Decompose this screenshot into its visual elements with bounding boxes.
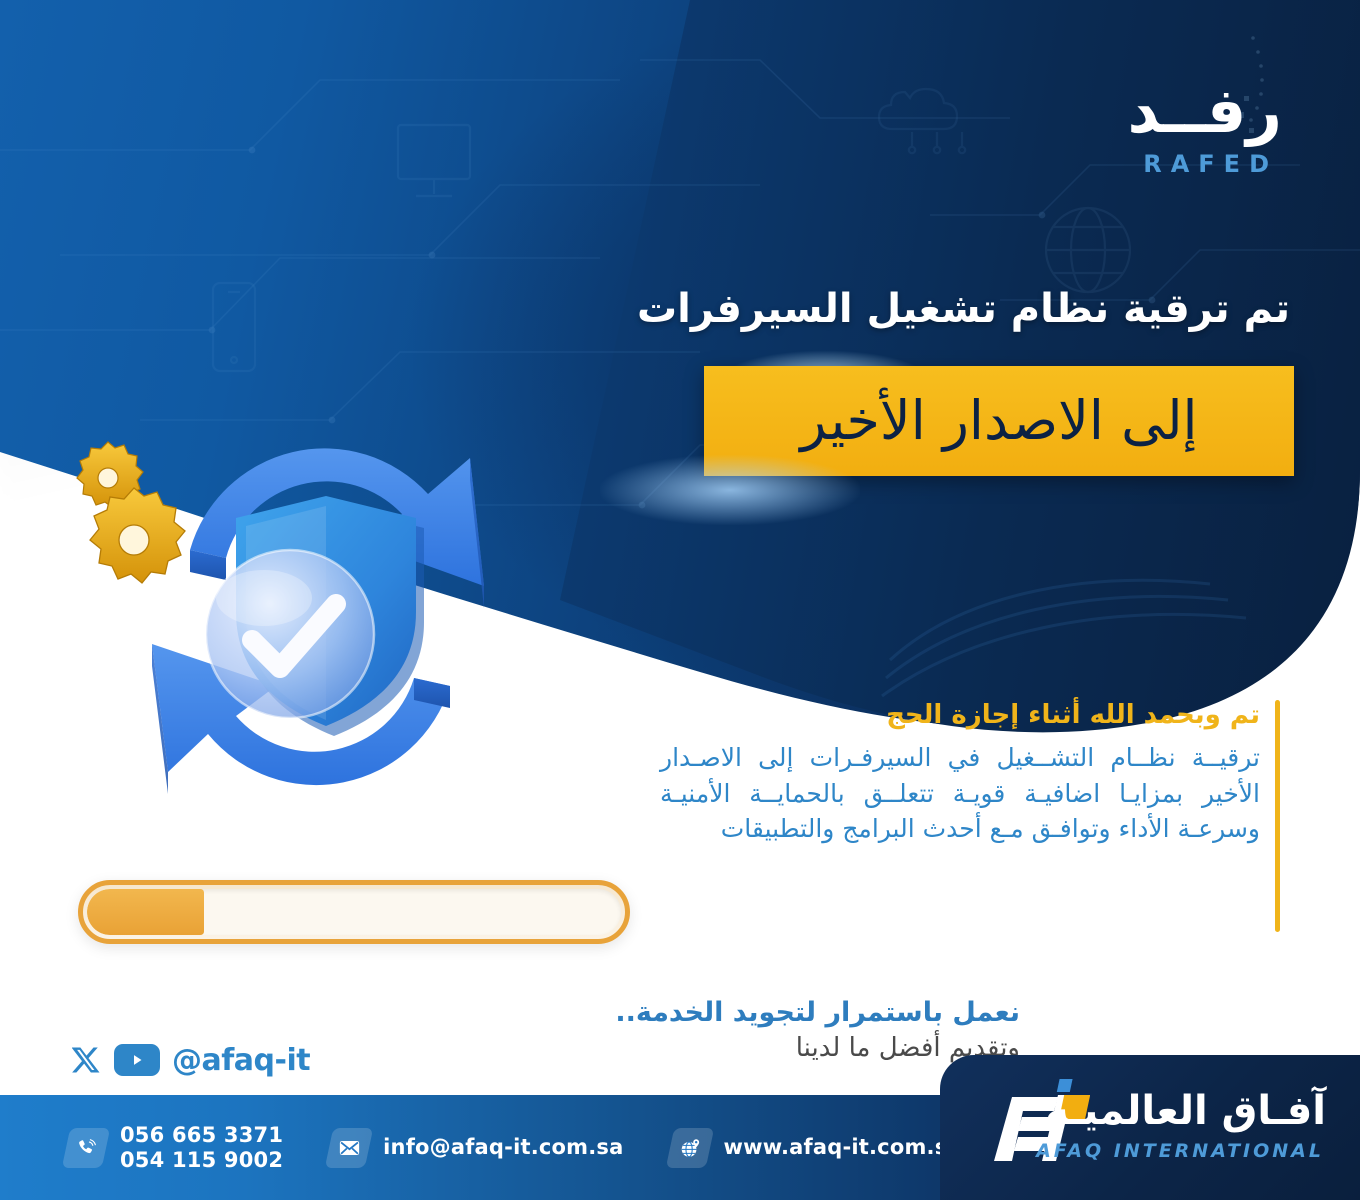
headline-highlight-text: إلى الاصدار الأخير <box>800 394 1197 448</box>
social-handles: @afaq-it <box>72 1038 310 1082</box>
footer-phone-line2: 054 115 9002 <box>120 1148 283 1173</box>
footer-website[interactable]: www.afaq-it.com.sa <box>670 1128 962 1168</box>
update-progress-bar <box>78 880 630 944</box>
update-shield-illustration <box>40 390 600 820</box>
rafed-logo: رفــد RAFED <box>1082 62 1282 182</box>
headline-line1: تم ترقية نظام تشغيل السيرفرات <box>570 284 1290 334</box>
paragraph-body: ترقيــة نظــام التشــغيل في السيرفـرات إ… <box>660 740 1260 847</box>
footer-email[interactable]: info@afaq-it.com.sa <box>329 1128 623 1168</box>
progress-fill <box>87 889 204 935</box>
footer-website-text: www.afaq-it.com.sa <box>724 1135 962 1160</box>
social-handle-text[interactable]: @afaq-it <box>172 1043 310 1078</box>
footer-email-text: info@afaq-it.com.sa <box>383 1135 623 1160</box>
footer-phone-line1: 056 665 3371 <box>120 1123 283 1148</box>
paragraph-block: تم وبحمد الله أثناء إجازة الحج ترقيــة ن… <box>660 700 1260 847</box>
envelope-icon <box>325 1128 374 1168</box>
checkmark-badge <box>206 550 374 718</box>
afaq-logo-arabic: آفـاق العالميـة <box>1045 1088 1326 1134</box>
youtube-icon[interactable] <box>114 1044 160 1076</box>
afaq-logo-latin: AFAQ INTERNATIONAL <box>1036 1140 1324 1162</box>
tagline-line2: وتقديم أفضل ما لدينا <box>490 1032 1020 1066</box>
paragraph-heading: تم وبحمد الله أثناء إجازة الحج <box>660 700 1260 731</box>
rafed-logo-arabic: رفــد <box>1128 80 1283 142</box>
phone-icon <box>62 1128 111 1168</box>
poster-canvas: رفــد RAFED تم ترقية نظام تشغيل السيرفرا… <box>0 0 1360 1200</box>
globe-pin-icon <box>665 1128 714 1168</box>
x-twitter-icon[interactable] <box>72 1045 102 1075</box>
afaq-logo-text: آفـاق العالميـة AFAQ INTERNATIONAL <box>946 1072 1326 1184</box>
footer-phone[interactable]: 056 665 3371 054 115 9002 <box>66 1123 283 1173</box>
headline-highlight-box: إلى الاصدار الأخير <box>704 366 1294 476</box>
footer-contact-list: 056 665 3371 054 115 9002 info@afaq-it.c… <box>66 1095 962 1200</box>
paragraph-accent-rule <box>1275 700 1280 932</box>
tagline-line1: نعمل باستمرار لتجويد الخدمة.. <box>490 996 1020 1030</box>
tagline-block: نعمل باستمرار لتجويد الخدمة.. وتقديم أفض… <box>490 996 1020 1066</box>
progress-track-inner <box>87 889 621 935</box>
footer-phone-text: 056 665 3371 054 115 9002 <box>120 1123 283 1173</box>
afaq-logo-panel: آفـاق العالميـة AFAQ INTERNATIONAL <box>940 1055 1360 1200</box>
rafed-logo-latin: RAFED <box>1143 150 1278 178</box>
